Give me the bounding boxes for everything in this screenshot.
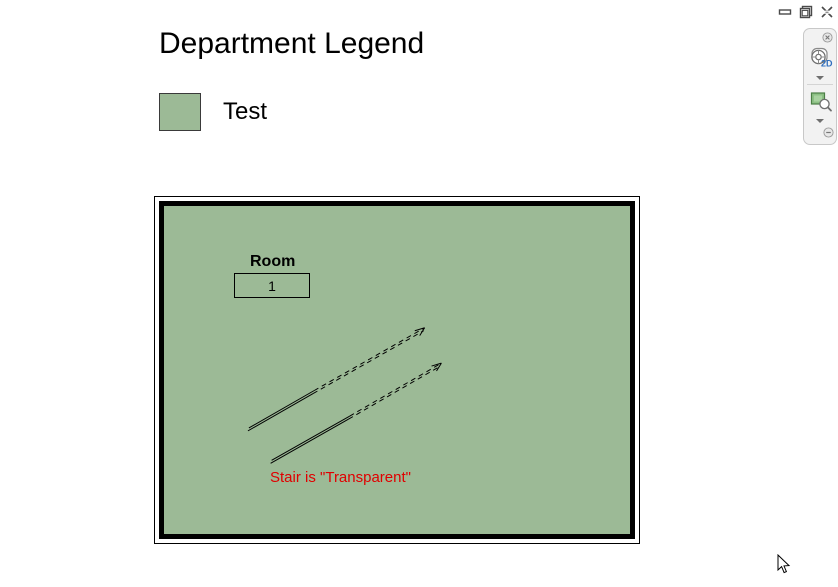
stair-run-upper	[248, 328, 425, 431]
stair-run-lower	[271, 363, 442, 463]
navbar-divider	[807, 84, 833, 85]
chevron-down-icon[interactable]	[813, 73, 827, 82]
navbar-minimize-icon[interactable]	[823, 127, 834, 138]
restore-button[interactable]	[799, 5, 813, 19]
chevron-down-icon[interactable]	[813, 116, 827, 125]
stair-annotation-text: Stair is "Transparent"	[270, 469, 411, 486]
legend-color-swatch	[159, 93, 201, 131]
window-controls	[778, 5, 834, 19]
room-fill-area[interactable]: Room 1	[164, 206, 630, 534]
navbar-close-icon[interactable]	[822, 32, 833, 43]
page-title: Department Legend	[159, 26, 424, 62]
mouse-cursor	[777, 554, 791, 575]
steering-wheels-button[interactable]: 2D	[805, 43, 835, 82]
zoom-tool-button[interactable]	[805, 86, 835, 125]
floor-plan-view[interactable]: Room 1	[154, 196, 640, 544]
navigation-bar[interactable]: 2D	[803, 28, 837, 145]
close-icon[interactable]	[820, 5, 834, 19]
steering-wheel-2d-icon: 2D	[806, 44, 834, 72]
legend-item: Test	[159, 93, 267, 131]
room-walls: Room 1	[159, 201, 635, 539]
zoom-magnifier-icon	[806, 87, 834, 115]
legend-item-label: Test	[223, 98, 267, 126]
svg-text:2D: 2D	[821, 59, 833, 69]
minimize-button[interactable]	[778, 5, 792, 19]
